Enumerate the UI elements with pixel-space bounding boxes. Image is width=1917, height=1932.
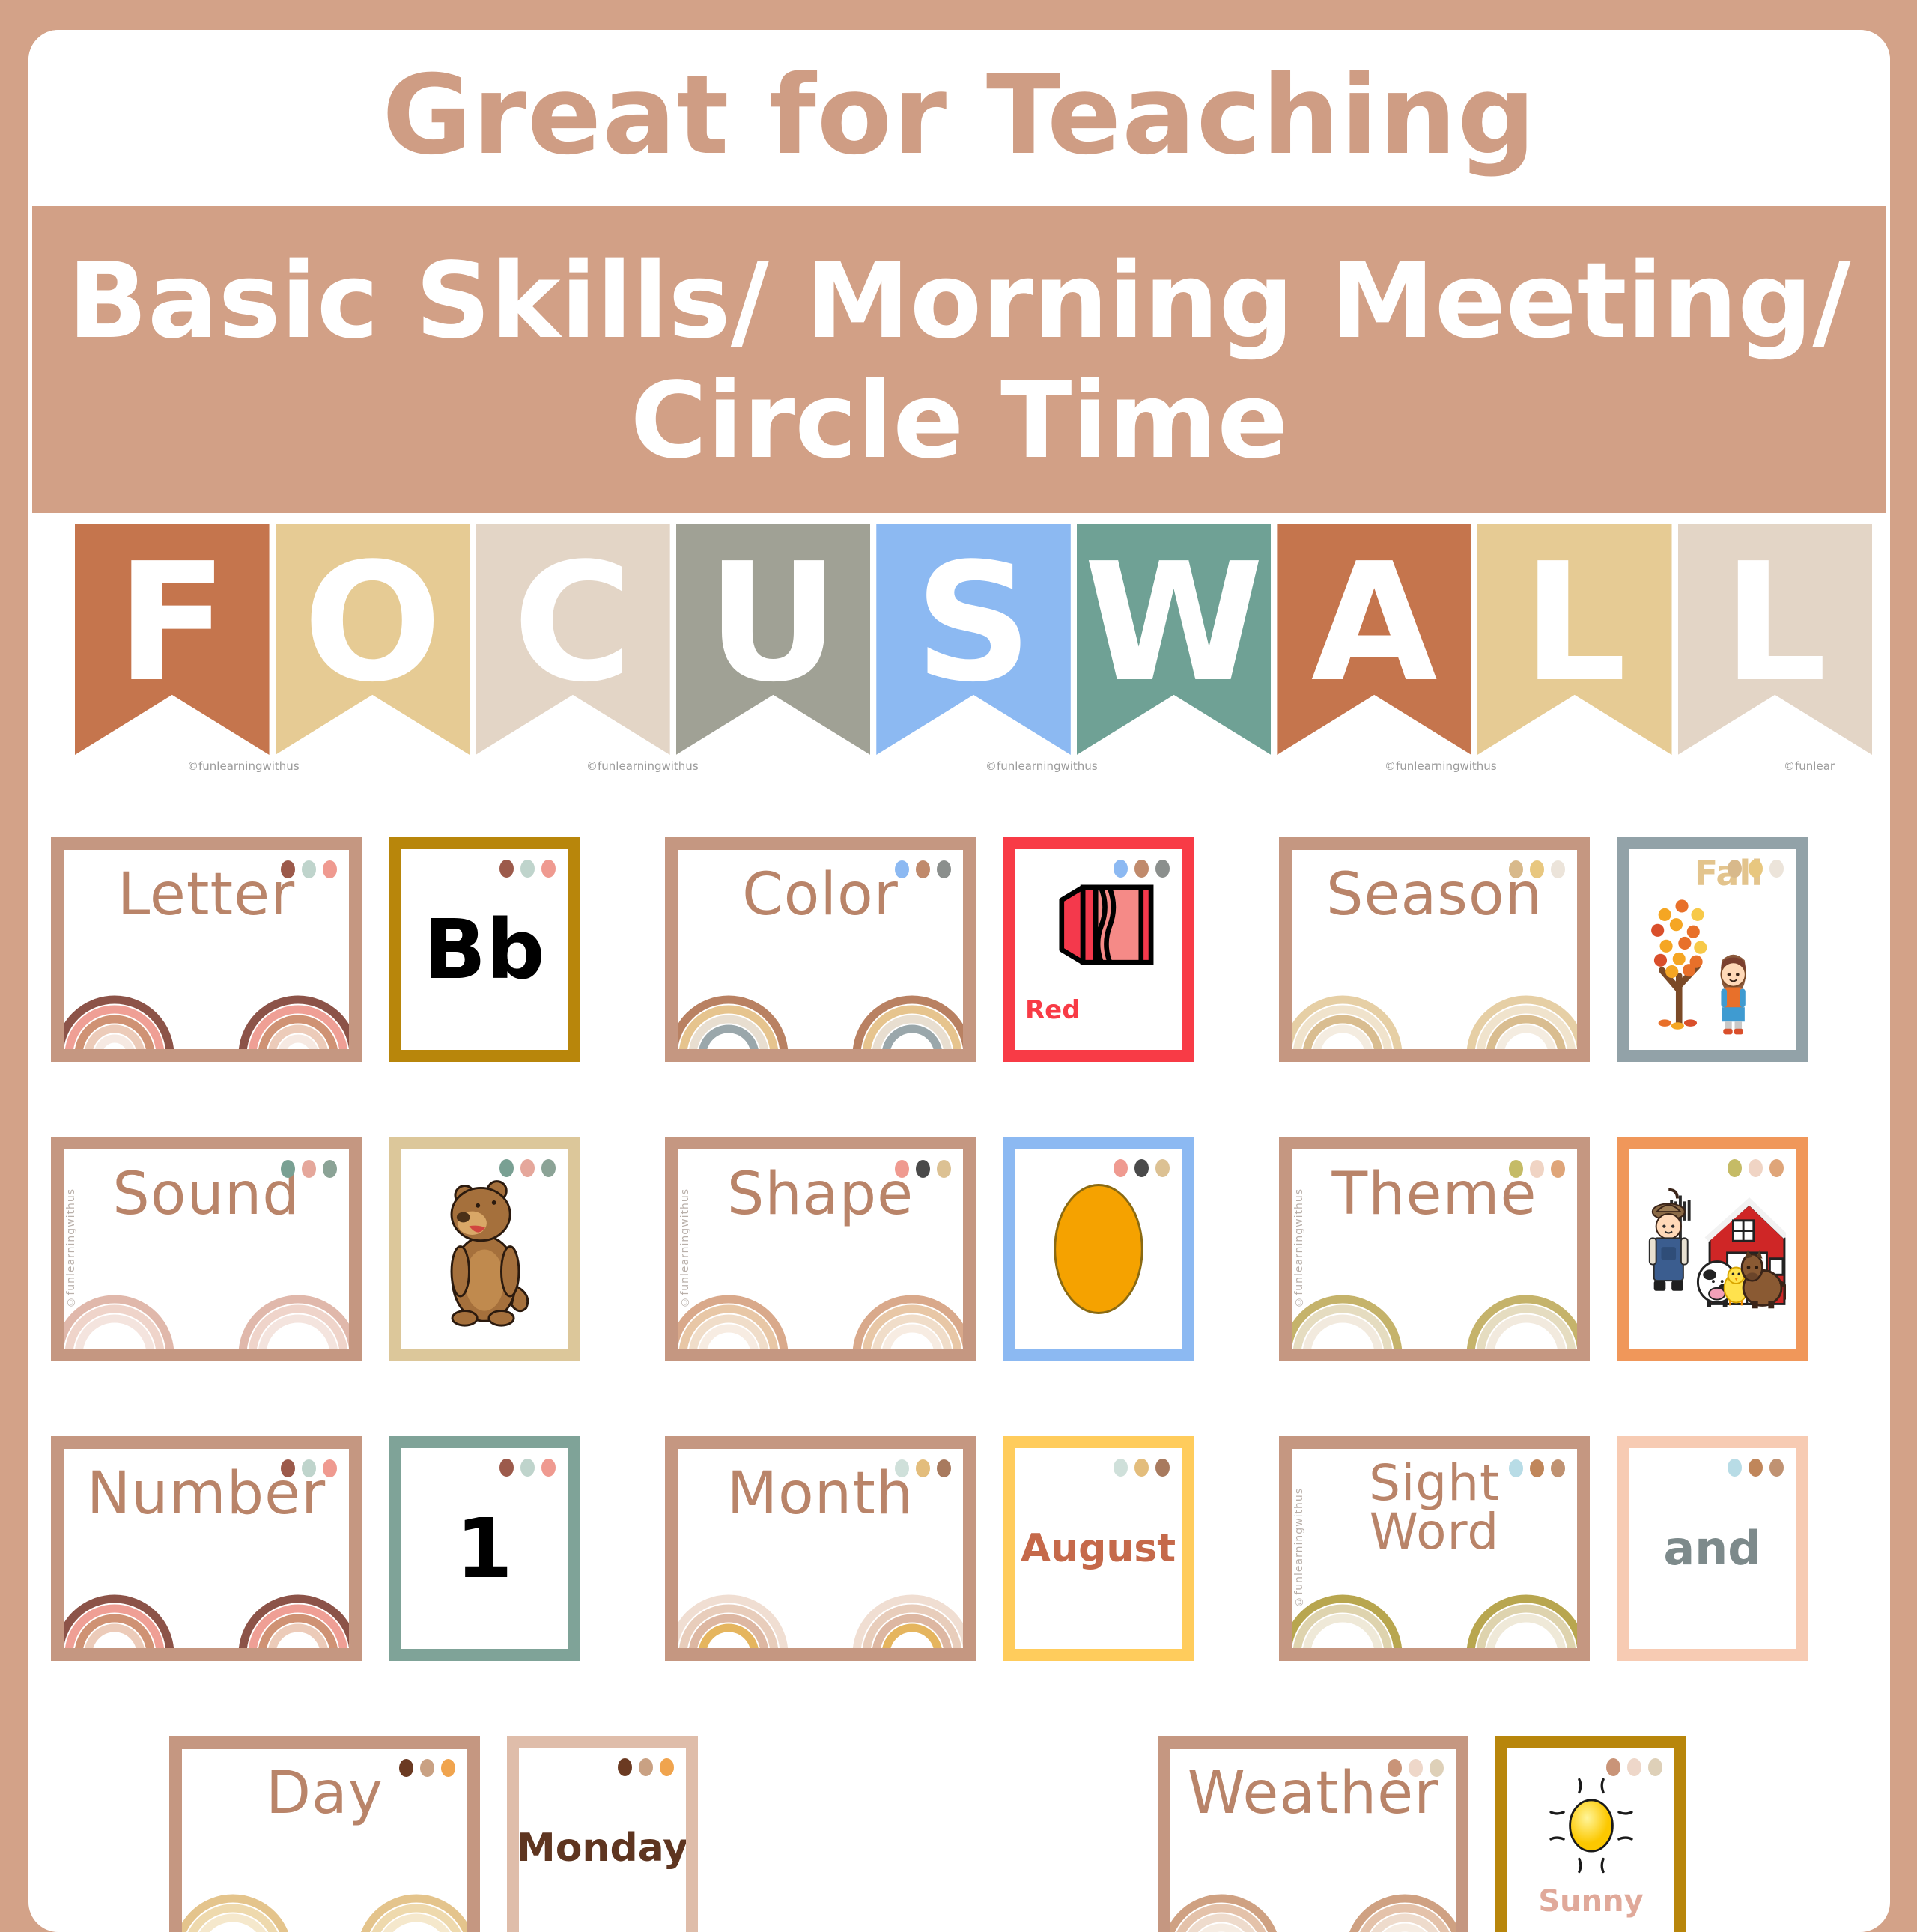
dot-icon <box>916 1459 930 1477</box>
value-card-season[interactable]: Fall <box>1617 837 1808 1062</box>
oval-shape-icon <box>1048 1179 1149 1319</box>
label-card-sight-word[interactable]: Sight Word©funlearningwithus <box>1279 1436 1590 1661</box>
dot-icon <box>1134 1159 1149 1177</box>
corner-dots <box>1114 1459 1170 1477</box>
corner-dots <box>1114 860 1170 878</box>
value-card-sound[interactable] <box>389 1137 580 1361</box>
subtitle-line-1: Basic Skills/ Morning Meeting/ <box>67 242 1850 362</box>
dot-icon <box>1409 1759 1423 1777</box>
dot-icon <box>1114 1459 1128 1477</box>
card-pair-7: MonthAugust <box>665 1436 1257 1736</box>
rainbow-arch-icon <box>238 1542 358 1654</box>
dot-icon <box>1728 1159 1742 1177</box>
dot-icon <box>1769 860 1784 878</box>
dot-icon <box>1551 1459 1565 1477</box>
dot-icon <box>520 860 535 878</box>
dot-icon <box>937 1160 951 1178</box>
rainbow-arch-icon <box>55 1542 174 1654</box>
value-text: Monday <box>517 1829 688 1868</box>
corner-dots <box>281 860 337 878</box>
bear-icon <box>428 1169 541 1330</box>
corner-dots <box>399 1759 455 1777</box>
focus-wall-card-grid: LetterBbColor RedSeasonFall Sound©funlea <box>28 837 1890 1932</box>
card-pair-5: Theme©funlearningwithus <box>1279 1137 1871 1436</box>
dot-icon <box>1509 860 1523 878</box>
bunting-flag-letter: L <box>1522 542 1626 705</box>
label-card-sound[interactable]: Sound©funlearningwithus <box>51 1137 362 1361</box>
dot-icon <box>1509 1160 1523 1178</box>
dot-icon <box>541 860 556 878</box>
dot-icon <box>302 860 316 878</box>
corner-dots <box>1509 1459 1565 1477</box>
corner-dots <box>1606 1758 1662 1776</box>
dot-icon <box>1114 860 1128 878</box>
rainbow-arch-icon <box>1345 1841 1465 1932</box>
dot-icon <box>1551 1160 1565 1178</box>
dot-icon <box>1134 1459 1149 1477</box>
dot-icon <box>1530 1459 1544 1477</box>
corner-dots <box>895 1459 951 1477</box>
page-title: Great for Teaching <box>382 61 1536 170</box>
dot-icon <box>916 860 930 878</box>
dot-icon <box>520 1459 535 1477</box>
dot-icon <box>916 1160 930 1178</box>
value-text: 1 <box>455 1507 513 1590</box>
dot-icon <box>937 860 951 878</box>
dot-icon <box>1606 1758 1620 1776</box>
dot-icon <box>302 1459 316 1477</box>
dot-icon <box>895 1160 909 1178</box>
dot-icon <box>1509 1459 1523 1477</box>
subtitle-line-2: Circle Time <box>631 362 1289 482</box>
label-card-color[interactable]: Color <box>665 837 976 1062</box>
corner-dots <box>895 1160 951 1178</box>
dot-icon <box>499 1159 514 1177</box>
bunting-flag-letter: O <box>303 542 442 705</box>
bunting-flag-0: F <box>75 524 270 755</box>
bunting-flag-letter: A <box>1311 542 1438 705</box>
corner-dots <box>618 1758 674 1776</box>
dot-icon <box>323 860 337 878</box>
card-pair-1: Color Red <box>665 837 1257 1137</box>
value-card-sight-word[interactable]: and <box>1617 1436 1808 1661</box>
dot-icon <box>1627 1758 1641 1776</box>
dot-icon <box>1114 1159 1128 1177</box>
card-pair-8: Sight Word©funlearningwithusand <box>1279 1436 1871 1736</box>
card-row-2: Number1MonthAugustSight Word©funlearning… <box>28 1436 1890 1736</box>
card-pair-9: DayMonday <box>169 1736 761 1932</box>
value-card-day[interactable]: Monday <box>507 1736 698 1932</box>
label-card-shape[interactable]: Shape©funlearningwithus <box>665 1137 976 1361</box>
dot-icon <box>1430 1759 1444 1777</box>
value-card-color[interactable]: Red <box>1003 837 1194 1062</box>
corner-dots <box>1509 860 1565 878</box>
corner-dots <box>499 1159 556 1177</box>
corner-dots <box>499 860 556 878</box>
card-row-1: Sound©funlearningwithus Shape©funlearnin… <box>28 1137 1890 1436</box>
card-row-0: LetterBbColor RedSeasonFall <box>28 837 1890 1137</box>
bunting-flag-7: L <box>1477 524 1672 755</box>
value-card-theme[interactable] <box>1617 1137 1808 1361</box>
rainbow-arch-icon <box>852 1542 972 1654</box>
bunting-flag-letter: U <box>707 542 839 705</box>
dot-icon <box>1134 860 1149 878</box>
bunting-flag-letter: C <box>513 542 633 705</box>
rainbow-arch-icon <box>356 1841 476 1932</box>
value-text: August <box>1021 1529 1176 1568</box>
bunting-watermark: ©funlearningwithus <box>187 759 300 773</box>
label-card-theme[interactable]: Theme©funlearningwithus <box>1279 1137 1590 1361</box>
dot-icon <box>499 1459 514 1477</box>
label-card-month[interactable]: Month <box>665 1436 976 1661</box>
value-card-shape[interactable] <box>1003 1137 1194 1361</box>
dot-icon <box>281 1459 295 1477</box>
bunting-flag-letter: W <box>1084 542 1263 705</box>
fall-tree-icon <box>1642 890 1783 1040</box>
rainbow-arch-icon <box>669 943 789 1055</box>
value-card-letter[interactable]: Bb <box>389 837 580 1062</box>
label-card-number[interactable]: Number <box>51 1436 362 1661</box>
dot-icon <box>1728 860 1742 878</box>
sun-icon <box>1538 1772 1644 1879</box>
rainbow-arch-icon <box>55 943 174 1055</box>
value-text: and <box>1663 1525 1760 1572</box>
rainbow-arch-icon <box>238 1242 358 1355</box>
card-row-3: DayMondayWeather Sunny <box>28 1736 1890 1932</box>
dot-icon <box>1155 1159 1170 1177</box>
dot-icon <box>541 1159 556 1177</box>
focus-wall-bunting: FOCUSWALL©funlearningwithus©funlearningw… <box>75 524 1872 771</box>
corner-dots <box>1728 860 1784 878</box>
card-pair-0: LetterBb <box>51 837 642 1137</box>
rainbow-arch-icon <box>1161 1841 1281 1932</box>
label-card-weather[interactable]: Weather <box>1158 1736 1468 1932</box>
rainbow-arch-icon <box>1466 1242 1586 1355</box>
value-caption: Red <box>1025 997 1081 1023</box>
corner-dots <box>1388 1759 1444 1777</box>
rainbow-arch-icon <box>1283 943 1403 1055</box>
dot-icon <box>1648 1758 1662 1776</box>
dot-icon <box>1749 1459 1763 1477</box>
dot-icon <box>323 1160 337 1178</box>
dot-icon <box>420 1759 434 1777</box>
value-caption: Sunny <box>1538 1886 1643 1916</box>
label-card-letter[interactable]: Letter <box>51 837 362 1062</box>
rainbow-arch-icon <box>669 1542 789 1654</box>
dot-icon <box>323 1459 337 1477</box>
bunting-watermark: ©funlearningwithus <box>586 759 699 773</box>
card-pair-10: Weather Sunny <box>1158 1736 1749 1932</box>
crayon-icon <box>1027 872 1170 978</box>
bunting-flag-3: U <box>676 524 871 755</box>
dot-icon <box>281 860 295 878</box>
card-watermark: ©funlearningwithus <box>1293 1488 1305 1608</box>
dot-icon <box>1728 1459 1742 1477</box>
dot-icon <box>937 1459 951 1477</box>
value-card-month[interactable]: August <box>1003 1436 1194 1661</box>
farm-scene-icon <box>1639 1179 1786 1319</box>
corner-dots <box>1728 1459 1784 1477</box>
dot-icon <box>499 860 514 878</box>
bunting-flag-6: A <box>1277 524 1471 755</box>
rainbow-arch-icon <box>1466 943 1586 1055</box>
card-watermark: ©funlearningwithus <box>65 1188 77 1308</box>
bunting-flag-letter: S <box>915 542 1033 705</box>
rainbow-arch-icon <box>852 943 972 1055</box>
dot-icon <box>1530 1160 1544 1178</box>
dot-icon <box>895 1459 909 1477</box>
dot-icon <box>1155 1459 1170 1477</box>
label-card-season[interactable]: Season <box>1279 837 1590 1062</box>
dot-icon <box>1749 860 1763 878</box>
dot-icon <box>1155 860 1170 878</box>
card-watermark: ©funlearningwithus <box>679 1188 691 1308</box>
card-watermark: ©funlearningwithus <box>1293 1188 1305 1308</box>
bunting-flag-5: W <box>1077 524 1272 755</box>
card-pair-6: Number1 <box>51 1436 642 1736</box>
rainbow-arch-icon <box>173 1841 293 1932</box>
corner-dots <box>281 1160 337 1178</box>
dot-icon <box>1769 1159 1784 1177</box>
dot-icon <box>1551 860 1565 878</box>
card-pair-3: Sound©funlearningwithus <box>51 1137 642 1436</box>
corner-dots <box>1728 1159 1784 1177</box>
bunting-flag-8: L <box>1678 524 1873 755</box>
corner-dots <box>895 860 951 878</box>
card-pair-2: SeasonFall <box>1279 837 1871 1137</box>
dot-icon <box>618 1758 632 1776</box>
card-pair-4: Shape©funlearningwithus <box>665 1137 1257 1436</box>
value-card-number[interactable]: 1 <box>389 1436 580 1661</box>
dot-icon <box>541 1459 556 1477</box>
value-card-weather[interactable]: Sunny <box>1495 1736 1686 1932</box>
dot-icon <box>1769 1459 1784 1477</box>
dot-icon <box>1749 1159 1763 1177</box>
dot-icon <box>1388 1759 1402 1777</box>
header-top: Great for Teaching <box>28 30 1890 201</box>
dot-icon <box>1530 860 1544 878</box>
bunting-flag-letter: F <box>116 542 228 705</box>
label-card-day[interactable]: Day <box>169 1736 480 1932</box>
bunting-flag-1: O <box>276 524 470 755</box>
dot-icon <box>441 1759 455 1777</box>
dot-icon <box>660 1758 674 1776</box>
bunting-flag-letter: L <box>1723 542 1827 705</box>
corner-dots <box>1114 1159 1170 1177</box>
dot-icon <box>520 1159 535 1177</box>
rainbow-arch-icon <box>238 943 358 1055</box>
header-subtitle-band: Basic Skills/ Morning Meeting/ Circle Ti… <box>32 206 1886 513</box>
corner-dots <box>281 1459 337 1477</box>
dot-icon <box>895 860 909 878</box>
dot-icon <box>302 1160 316 1178</box>
bunting-flag-4: S <box>876 524 1071 755</box>
dot-icon <box>281 1160 295 1178</box>
value-text: Bb <box>423 908 545 991</box>
bunting-watermark: ©funlearningwithus <box>1385 759 1497 773</box>
rainbow-arch-icon <box>852 1242 972 1355</box>
dot-icon <box>639 1758 653 1776</box>
bunting-watermark: ©funlearningwithus <box>985 759 1098 773</box>
dot-icon <box>399 1759 413 1777</box>
corner-dots <box>499 1459 556 1477</box>
bunting-watermark: ©funlear <box>1784 759 1835 773</box>
poster-canvas: Great for Teaching Basic Skills/ Morning… <box>28 30 1890 1932</box>
bunting-flag-2: C <box>476 524 670 755</box>
corner-dots <box>1509 1160 1565 1178</box>
